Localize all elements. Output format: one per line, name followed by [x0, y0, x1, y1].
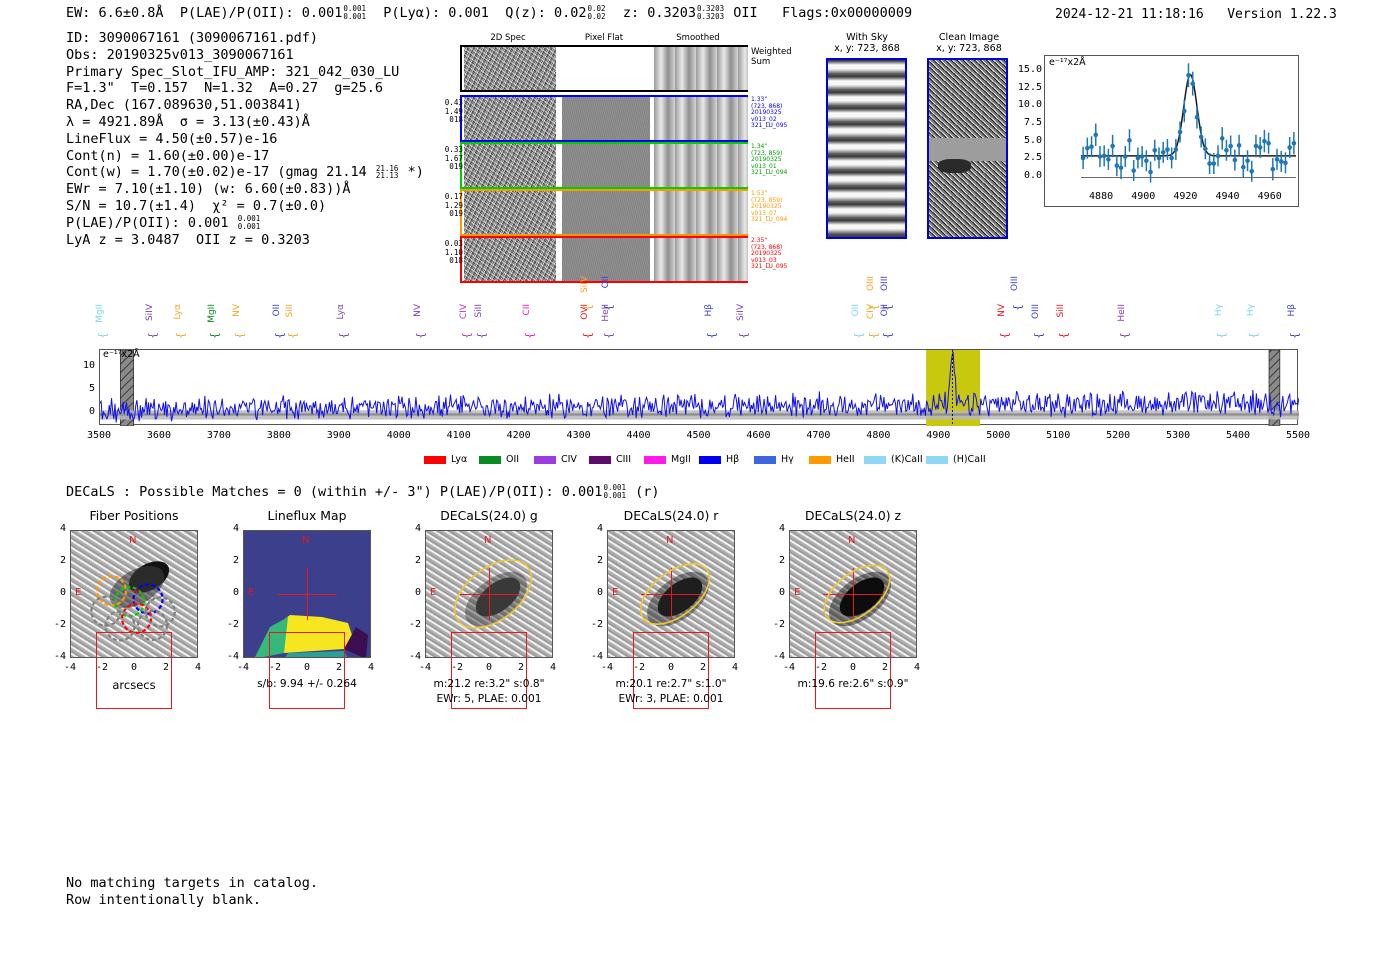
- clean-image-title-text: Clean Image: [920, 32, 1018, 43]
- emission-line-label-NV-8: NV: [414, 304, 423, 317]
- cutout-1-ytick-2: 0: [218, 587, 239, 598]
- clean-image-image: [927, 58, 1008, 239]
- emission-line-tick-10: {: [475, 332, 488, 339]
- info-line-cont-n: Cont(n) = 1.60(±0.00)e-17: [66, 148, 424, 165]
- fiber-1-2dspec-image: [464, 97, 556, 140]
- spec2d-col-title-pixelflat: Pixel Flat: [556, 33, 652, 43]
- emission-line-tick-29: {: [1247, 332, 1260, 339]
- fiber-3-2dspec-image: [464, 191, 556, 234]
- emission-line-tick-2: {: [174, 332, 187, 339]
- cutout-4-ytick-3: -2: [764, 619, 785, 630]
- fullspec-xtick-8: 4300: [554, 430, 604, 441]
- bottom-note-line-1: No matching targets in catalog.: [66, 875, 318, 892]
- header-summary-line: EW: 6.6±0.8Å P(LAE)/P(OII): 0.0010.0010.…: [66, 5, 912, 21]
- emission-line-label-SiII-6: SiII: [286, 304, 295, 318]
- clean-image-coords: x, y: 723, 868: [920, 43, 1018, 54]
- cutout-2-ytick-3: -2: [400, 619, 421, 630]
- emission-line-tick-24: {: [1011, 304, 1024, 311]
- weighted-sum-2dspec-image: [464, 47, 556, 90]
- emission-line-tick-0: {: [96, 332, 109, 339]
- emission-line-tick-9: {: [460, 332, 473, 339]
- fullspec-xtick-18: 5300: [1153, 430, 1203, 441]
- emission-line-tick-28: {: [1215, 332, 1228, 339]
- legend-swatch-5: [699, 456, 721, 464]
- legend-label-3: CIII: [616, 454, 631, 465]
- cutout-3-ytick-3: -2: [582, 619, 603, 630]
- cutout-1-xtick-1: -2: [257, 662, 293, 673]
- legend-item-H: Hγ: [754, 454, 794, 465]
- cutout-3-xtick-1: -2: [621, 662, 657, 673]
- fiber-2-pixelflat-image: [562, 144, 650, 187]
- header-timestamp-block: 2024-12-21 11:18:16 Version 1.22.3: [1055, 7, 1337, 22]
- fiber-1-pixelflat-image: [562, 97, 650, 140]
- cutout-4-xtick-4: 4: [899, 662, 935, 673]
- cutout-1-xtick-3: 2: [321, 662, 357, 673]
- qz-label: Q(z):: [505, 5, 546, 21]
- legend-swatch-9: [926, 456, 948, 464]
- cutout-title-3: DECaLS(24.0) r: [585, 508, 757, 523]
- cutout-0-ytick-0: 4: [45, 523, 66, 534]
- cutout-4-ytick-0: 4: [764, 523, 785, 534]
- info-line-redshift: LyA z = 3.0487 OII z = 0.3203: [66, 232, 424, 249]
- fitplot-xtick-0: 4880: [1081, 191, 1121, 202]
- emission-line-tick-13: {: [581, 304, 594, 311]
- fitplot-xtick-2: 4920: [1165, 191, 1205, 202]
- legend-label-0: Lyα: [451, 454, 467, 465]
- emission-line-label-OIII-25: OIII: [1032, 304, 1041, 319]
- cutout-caption1-3: m:20.1 re:2.7" s:1.0": [585, 678, 757, 690]
- fullspec-units-label: e⁻¹⁷x2Å: [103, 349, 140, 360]
- fullspec-xtick-6: 4100: [434, 430, 484, 441]
- legend-label-4: MgII: [671, 454, 691, 465]
- legend-item-KCaII: (K)CaII: [864, 454, 923, 465]
- fullspec-ytick-2: 10: [69, 360, 95, 371]
- fiber-2-left-stats: 0.33 1.67 019: [445, 146, 463, 172]
- info-plae-range: 0.0010.001: [238, 215, 261, 230]
- fiber-2-smoothed-image: [654, 144, 748, 187]
- cutout-3-ytick-1: 2: [582, 555, 603, 566]
- cutout-2-xtick-0: -4: [407, 662, 443, 673]
- fullspec-xtick-4: 3900: [314, 430, 364, 441]
- decals-plae-range: 0.0010.001: [603, 484, 626, 499]
- fitplot-canvas: [1045, 56, 1300, 208]
- emission-line-label-SiII-26: SiII: [1057, 304, 1066, 318]
- fitplot-xtick-4: 4960: [1250, 191, 1290, 202]
- fiber-center-marker: +: [131, 584, 141, 598]
- cutout-caption1-2: m:21.2 re:3.2" s:0.8": [403, 678, 575, 690]
- info-line-radec: RA,Dec (167.089630,51.003841): [66, 97, 424, 114]
- emission-line-label-H-16: Hβ: [705, 304, 714, 317]
- info-line-cont-w: Cont(w) = 1.70(±0.02)e-17 (gmag 21.14 21…: [66, 164, 424, 181]
- cutout-1-xtick-2: 0: [289, 662, 325, 673]
- cutout-3-ytick-2: 0: [582, 587, 603, 598]
- datetime-text: 2024-12-21 11:18:16: [1055, 7, 1204, 22]
- cutout-0-xtick-4: 4: [180, 662, 216, 673]
- spec2d-row-weighted-sum: [460, 45, 748, 92]
- cutout-4-xtick-2: 0: [835, 662, 871, 673]
- emission-line-tick-15: {: [602, 304, 615, 311]
- cutout-1-ytick-0: 4: [218, 523, 239, 534]
- cutout-1-ytick-1: 2: [218, 555, 239, 566]
- fitplot-ytick-1: 2.5: [1014, 152, 1042, 163]
- emission-line-label-MgII-0: MgII: [96, 304, 105, 323]
- cutout-3-ytick-0: 4: [582, 523, 603, 534]
- legend-swatch-3: [589, 456, 611, 464]
- detection-info-block: ID: 3090067161 (3090067161.pdf) Obs: 201…: [66, 30, 424, 248]
- info-line-obs: Obs: 20190325v013_3090067161: [66, 47, 424, 64]
- plya-value: 0.001: [448, 5, 489, 21]
- plae-poii-range: 0.0010.001: [343, 5, 366, 20]
- legend-swatch-2: [534, 456, 556, 464]
- emission-line-tick-18: {: [852, 332, 865, 339]
- emission-line-label-HeII-27: HeII: [1118, 304, 1127, 322]
- fullspec-ytick-0: 0: [69, 406, 95, 417]
- cutout-crosshair-h2-4: [827, 594, 849, 595]
- emission-line-tick-6: {: [286, 332, 299, 339]
- fiber-4-right-meta: 2.35" (723, 868) 20190325 v013_03 321_LU…: [751, 238, 787, 271]
- cutout-east-label-3: E: [612, 587, 618, 598]
- cutout-north-label-2: N: [484, 535, 491, 546]
- full-spectrum-plot: e⁻¹⁷x2Å: [99, 349, 1298, 425]
- cutout-3-xtick-3: 2: [685, 662, 721, 673]
- fullspec-xtick-11: 4600: [733, 430, 783, 441]
- cutout-caption1-1: s/b: 9.94 +/- 0.264: [221, 678, 393, 690]
- emission-line-label-OII-5: OII: [273, 304, 282, 316]
- emission-line-tick-19: {: [867, 332, 880, 339]
- cutout-0-ytick-1: 2: [45, 555, 66, 566]
- legend-item-HCaII: (H)CaII: [926, 454, 986, 465]
- bottom-note-line-2: Row intentionally blank.: [66, 892, 318, 909]
- cutout-2-ytick-4: -4: [400, 651, 421, 662]
- cutout-2-xtick-3: 2: [503, 662, 539, 673]
- fitplot-ytick-5: 12.5: [1014, 82, 1042, 93]
- info-line-lambda: λ = 4921.89Å σ = 3.13(±0.43)Å: [66, 114, 424, 131]
- fullspec-xtick-12: 4700: [793, 430, 843, 441]
- emission-line-label-MgII-3: MgII: [208, 304, 217, 323]
- cutout-title-1: Lineflux Map: [221, 508, 393, 523]
- spec2d-row-fiber-2: [460, 142, 748, 189]
- emission-line-label-Ly-7: Lyα: [337, 304, 346, 319]
- spec2d-row-fiber-1: [460, 95, 748, 142]
- fitplot-ytick-4: 10.0: [1014, 99, 1042, 110]
- qz-value: 0.02: [554, 5, 587, 21]
- emission-line-tick-30: {: [1288, 332, 1301, 339]
- cutout-north-label-3: N: [666, 535, 673, 546]
- legend-swatch-6: [754, 456, 776, 464]
- version-text: Version 1.22.3: [1227, 7, 1337, 22]
- fiber-3-right-meta: 1.53" (723, 859) 20190325 v013_07 321_LU…: [751, 191, 787, 224]
- cutout-1-xtick-4: 4: [353, 662, 389, 673]
- cutout-crosshair-h2-2: [463, 594, 485, 595]
- fiber-1-smoothed-image: [654, 97, 748, 140]
- fitplot-ytick-6: 15.0: [1014, 64, 1042, 75]
- emission-line-label-SiIV-13: SiIV: [581, 276, 590, 293]
- cutout-3-xtick-4: 4: [717, 662, 753, 673]
- emission-line-label-CIV-9: CIV: [460, 304, 469, 319]
- cutout-2-ytick-1: 2: [400, 555, 421, 566]
- fiber-4-pixelflat-image: [562, 238, 650, 281]
- fullspec-xtick-1: 3600: [134, 430, 184, 441]
- weighted-sum-label: Weighted Sum: [751, 47, 792, 67]
- cutout-1-ytick-4: -4: [218, 651, 239, 662]
- emission-line-label-NV-4: NV: [233, 304, 242, 317]
- plae-poii-value: 0.001: [302, 5, 343, 21]
- legend-item-CIII: CIII: [589, 454, 631, 465]
- cutout-2-xtick-4: 4: [535, 662, 571, 673]
- emission-line-tick-26: {: [1057, 332, 1070, 339]
- legend-swatch-0: [424, 456, 446, 464]
- qz-range: 0.020.02: [588, 5, 606, 20]
- legend-label-6: Hγ: [781, 454, 794, 465]
- legend-item-H: Hβ: [699, 454, 739, 465]
- emission-line-label-SiIV-17: SiIV: [737, 304, 746, 321]
- spec2d-row-fiber-3: [460, 189, 748, 236]
- emission-line-tick-17: {: [737, 332, 750, 339]
- z-range: 0.32030.3203: [697, 5, 724, 20]
- legend-swatch-7: [809, 456, 831, 464]
- cutout-0-xtick-1: -2: [84, 662, 120, 673]
- fullspec-xtick-7: 4200: [494, 430, 544, 441]
- fullspec-xtick-13: 4800: [853, 430, 903, 441]
- cutout-north-label-0: N: [129, 535, 136, 546]
- emission-line-label-H-29: Hγ: [1247, 304, 1256, 316]
- fiber-4-smoothed-image: [654, 238, 748, 281]
- emission-line-tick-22: {: [881, 304, 894, 311]
- cutout-title-2: DECaLS(24.0) g: [403, 508, 575, 523]
- cutout-xlabel-0: arcsecs: [50, 678, 218, 692]
- emission-line-tick-11: {: [523, 332, 536, 339]
- fullspec-xtick-14: 4900: [913, 430, 963, 441]
- cutout-east-label-1: E: [248, 587, 254, 598]
- info-line-seeing: F=1.3" T=0.157 N=1.32 A=0.27 g=25.6: [66, 80, 424, 97]
- legend-swatch-8: [864, 456, 886, 464]
- emission-line-label-Ly-2: Lyα: [174, 304, 183, 319]
- cutout-caption1-4: m:19.6 re:2.6" s:0.9": [767, 678, 939, 690]
- emission-line-tick-21: {: [867, 304, 880, 311]
- emission-line-tick-14: {: [602, 332, 615, 339]
- cutout-4-ytick-2: 0: [764, 587, 785, 598]
- emission-line-label-H-28: Hγ: [1215, 304, 1224, 316]
- plya-label: P(Lyα):: [383, 5, 440, 21]
- fullspec-canvas: [100, 350, 1299, 426]
- cutout-4-xtick-0: -4: [771, 662, 807, 673]
- cutout-title-0: Fiber Positions: [48, 508, 220, 523]
- fiber-3-left-stats: 0.17 1.29 019: [445, 193, 463, 219]
- fitplot-ytick-0: 0.0: [1014, 170, 1042, 181]
- cutout-4-xtick-3: 2: [867, 662, 903, 673]
- fitplot-xtick-3: 4940: [1208, 191, 1248, 202]
- decals-header: DECaLS : Possible Matches = 0 (within +/…: [66, 484, 660, 500]
- fullspec-xtick-3: 3800: [254, 430, 304, 441]
- weighted-sum-pixelflat-image: [562, 47, 650, 90]
- cutout-4-xtick-1: -2: [803, 662, 839, 673]
- fullspec-xtick-0: 3500: [74, 430, 124, 441]
- cutout-crosshair-h-1: [277, 594, 337, 595]
- decals-header-tail: (r): [635, 484, 659, 500]
- emission-line-tick-20: {: [881, 332, 894, 339]
- emission-line-tick-25: {: [1032, 332, 1045, 339]
- emission-line-fit-plot: e⁻¹⁷x2Å: [1044, 55, 1299, 207]
- fiber-4-2dspec-image: [464, 238, 556, 281]
- cutout-east-label-2: E: [430, 587, 436, 598]
- cutout-3-xtick-2: 0: [653, 662, 689, 673]
- emission-line-label-OIII-21: OIII: [867, 276, 876, 291]
- cutout-crosshair-h2-3: [645, 594, 667, 595]
- cutout-1-xtick-0: -4: [225, 662, 261, 673]
- cutout-2-ytick-2: 0: [400, 587, 421, 598]
- info-line-ewr: EWr = 7.10(±1.10) (w: 6.60(±0.83))Å: [66, 181, 424, 198]
- gmag-range: 21.1621.13: [376, 165, 399, 180]
- emission-line-tick-1: {: [146, 332, 159, 339]
- fiber-3-pixelflat-image: [562, 191, 650, 234]
- z-species: OII: [733, 5, 757, 21]
- cutout-caption2-2: EWr: 5, PLAE: 0.001: [403, 693, 575, 705]
- emission-line-tick-8: {: [414, 332, 427, 339]
- legend-label-2: CIV: [561, 454, 577, 465]
- emission-line-tick-3: {: [208, 332, 221, 339]
- legend-label-5: Hβ: [726, 454, 739, 465]
- legend-item-CIV: CIV: [534, 454, 577, 465]
- cutout-2-ytick-0: 4: [400, 523, 421, 534]
- legend-item-OII: OII: [479, 454, 519, 465]
- legend-item-HeII: HeII: [809, 454, 855, 465]
- cutout-north-label-4: N: [848, 535, 855, 546]
- with-sky-image: [826, 58, 907, 239]
- weighted-sum-smoothed-image: [654, 47, 748, 90]
- cutout-0-xtick-0: -4: [52, 662, 88, 673]
- cutout-title-4: DECaLS(24.0) z: [767, 508, 939, 523]
- fitplot-ytick-3: 7.5: [1014, 117, 1042, 128]
- emission-line-tick-7: {: [337, 332, 350, 339]
- fullspec-xtick-17: 5200: [1093, 430, 1143, 441]
- fitplot-xtick-1: 4900: [1123, 191, 1163, 202]
- emission-line-tick-12: {: [581, 332, 594, 339]
- emission-line-tick-16: {: [705, 332, 718, 339]
- emission-line-label-OII-15: OII: [602, 276, 611, 288]
- fiber-4-left-stats: 0.03 1.10 018: [445, 240, 463, 266]
- fullspec-xtick-10: 4500: [674, 430, 724, 441]
- emission-line-label-OIII-24: OIII: [1011, 276, 1020, 291]
- cutout-0-xtick-2: 0: [116, 662, 152, 673]
- emission-line-label-SiIV-1: SiIV: [146, 304, 155, 321]
- cutout-north-label-1: N: [302, 535, 309, 546]
- emission-line-label-OII-18: OII: [852, 304, 861, 316]
- ew-label: EW:: [66, 5, 90, 21]
- info-line-plae: P(LAE)/P(OII): 0.001 0.0010.001: [66, 215, 424, 232]
- fullspec-ytick-1: 5: [69, 383, 95, 394]
- fiber-3-smoothed-image: [654, 191, 748, 234]
- cutout-4-ytick-1: 2: [764, 555, 785, 566]
- fullspec-xtick-5: 4000: [374, 430, 424, 441]
- legend-label-8: (K)CaII: [891, 454, 923, 465]
- emission-line-tick-23: {: [998, 332, 1011, 339]
- legend-item-Ly: Lyα: [424, 454, 467, 465]
- emission-line-label-H-30: Hβ: [1288, 304, 1297, 317]
- cutout-0-ytick-4: -4: [45, 651, 66, 662]
- fullspec-xtick-2: 3700: [194, 430, 244, 441]
- fiber-1-left-stats: 0.43 1.49 018: [445, 99, 463, 125]
- fiber-1-right-meta: 1.33" (723, 868) 20190325 v013_02 321_LU…: [751, 97, 787, 130]
- emission-line-tick-4: {: [233, 332, 246, 339]
- fiber-2-2dspec-image: [464, 144, 556, 187]
- cutout-2-xtick-2: 0: [471, 662, 507, 673]
- emission-line-label-OIII-22: OIII: [881, 276, 890, 291]
- cutout-caption2-3: EWr: 3, PLAE: 0.001: [585, 693, 757, 705]
- info-line-sn: S/N = 10.7(±1.4) χ² = 0.7(±0.0): [66, 198, 424, 215]
- cutout-4-ytick-4: -4: [764, 651, 785, 662]
- legend-label-9: (H)CaII: [953, 454, 986, 465]
- cutout-2-xtick-1: -2: [439, 662, 475, 673]
- cutout-0-ytick-2: 0: [45, 587, 66, 598]
- clean-image-title: Clean Image x, y: 723, 868: [920, 32, 1018, 55]
- emission-line-tick-27: {: [1118, 332, 1131, 339]
- fullspec-xtick-15: 5000: [973, 430, 1023, 441]
- z-label: z:: [623, 5, 639, 21]
- ew-value: 6.6±0.8Å: [99, 5, 164, 21]
- spec2d-col-title-2dspec: 2D Spec: [460, 33, 556, 43]
- with-sky-coords: x, y: 723, 868: [822, 43, 912, 54]
- cutout-east-label-4: E: [794, 587, 800, 598]
- fullspec-xtick-20: 5500: [1273, 430, 1323, 441]
- emission-line-label-SiII-10: SiII: [475, 304, 484, 318]
- legend-swatch-1: [479, 456, 501, 464]
- legend-swatch-4: [644, 456, 666, 464]
- fullspec-xtick-9: 4400: [614, 430, 664, 441]
- cutout-3-xtick-0: -4: [589, 662, 625, 673]
- spec2d-col-title-smoothed: Smoothed: [650, 33, 746, 43]
- cutout-0-xtick-3: 2: [148, 662, 184, 673]
- legend-item-MgII: MgII: [644, 454, 691, 465]
- z-value: 0.3203: [647, 5, 696, 21]
- with-sky-title: With Sky x, y: 723, 868: [822, 32, 912, 55]
- fullspec-xtick-19: 5400: [1213, 430, 1263, 441]
- emission-line-label-CII-11: CII: [523, 304, 532, 316]
- info-line-lineflux: LineFlux = 4.50(±0.57)e-16: [66, 131, 424, 148]
- fiber-2-right-meta: 1.34" (723, 859) 20190325 v013_01 321_LU…: [751, 144, 787, 177]
- fitplot-ytick-2: 5.0: [1014, 135, 1042, 146]
- cutout-3-ytick-4: -4: [582, 651, 603, 662]
- cutout-east-label-0: E: [75, 587, 81, 598]
- emission-line-tick-5: {: [273, 332, 286, 339]
- legend-label-7: HeII: [836, 454, 855, 465]
- plae-poii-label: P(LAE)/P(OII):: [180, 5, 294, 21]
- emission-line-label-NV-23: NV: [998, 304, 1007, 317]
- decals-header-text: DECaLS : Possible Matches = 0 (within +/…: [66, 484, 602, 500]
- flags-label: Flags:0x00000009: [782, 5, 912, 21]
- info-line-primary: Primary Spec_Slot_IFU_AMP: 321_042_030_L…: [66, 64, 424, 81]
- legend-label-1: OII: [506, 454, 519, 465]
- cutout-1-ytick-3: -2: [218, 619, 239, 630]
- bottom-note: No matching targets in catalog. Row inte…: [66, 875, 318, 909]
- cutout-0-ytick-3: -2: [45, 619, 66, 630]
- with-sky-title-text: With Sky: [822, 32, 912, 43]
- info-line-id: ID: 3090067161 (3090067161.pdf): [66, 30, 424, 47]
- fullspec-xtick-16: 5100: [1033, 430, 1083, 441]
